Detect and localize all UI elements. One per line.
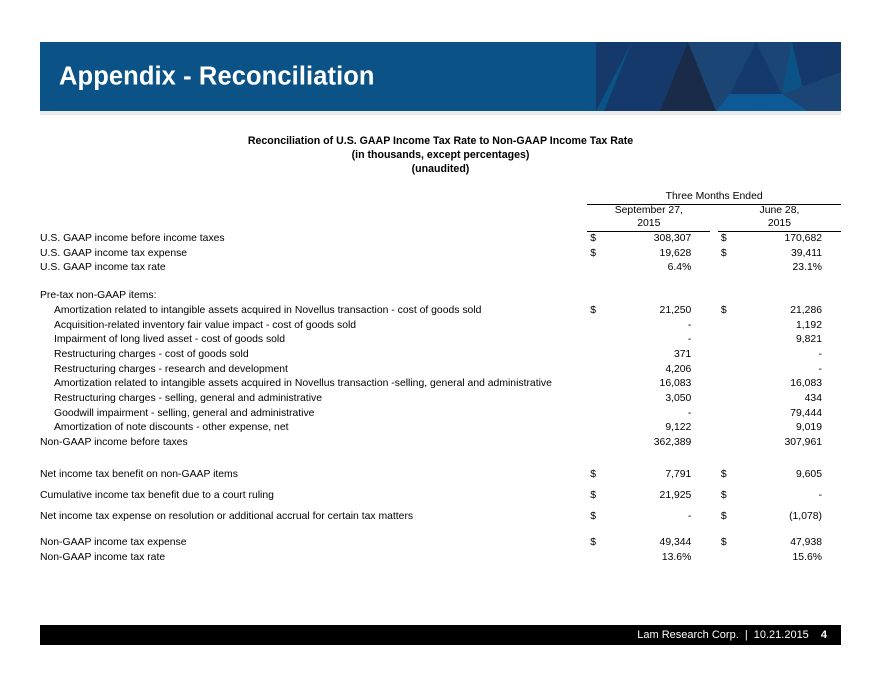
row-currency-symbol-col1 xyxy=(587,289,609,304)
table-row: Pre-tax non-GAAP items: xyxy=(40,289,841,304)
row-currency-symbol-col1 xyxy=(587,363,609,378)
row-currency-symbol-col1 xyxy=(587,333,609,348)
row-currency-symbol-col1: $ xyxy=(587,485,609,506)
row-value-col1: 371 xyxy=(610,348,711,363)
row-value-col2: 15.6% xyxy=(740,551,841,566)
row-gap xyxy=(710,464,718,485)
row-currency-symbol-col1: $ xyxy=(587,536,609,551)
row-currency-symbol-col1 xyxy=(587,319,609,334)
row-value-col1: 19,628 xyxy=(610,247,711,262)
row-currency-symbol-col2 xyxy=(718,289,740,304)
row-value-col2: 307,961 xyxy=(740,436,841,451)
row-currency-symbol-col1 xyxy=(587,436,609,451)
row-gap xyxy=(710,377,718,392)
row-gap xyxy=(710,485,718,506)
footer-separator: | xyxy=(745,629,748,641)
row-value-col2: 16,083 xyxy=(740,377,841,392)
row-value-col1: 6.4% xyxy=(610,261,711,276)
table-row: Amortization related to intangible asset… xyxy=(40,304,841,319)
row-label: Restructuring charges - selling, general… xyxy=(40,392,587,407)
table-spacer-row xyxy=(40,451,841,464)
row-currency-symbol-col1: $ xyxy=(587,247,609,262)
footer-text: Lam Research Corp. | 10.21.2015 4 xyxy=(637,629,827,641)
reconciliation-table: Three Months Ended September 27, June 28… xyxy=(40,190,841,565)
table-header: Three Months Ended September 27, June 28… xyxy=(40,190,841,232)
row-value-col1: - xyxy=(610,319,711,334)
table-row: Non-GAAP income tax rate13.6%15.6% xyxy=(40,551,841,566)
row-currency-symbol-col2 xyxy=(718,348,740,363)
row-currency-symbol-col2: $ xyxy=(718,485,740,506)
table-title-line1: Reconciliation of U.S. GAAP Income Tax R… xyxy=(40,134,841,148)
row-currency-symbol-col2: $ xyxy=(718,536,740,551)
row-label: Impairment of long lived asset - cost of… xyxy=(40,333,587,348)
row-currency-symbol-col2 xyxy=(718,407,740,422)
row-currency-symbol-col1 xyxy=(587,392,609,407)
column-group-header: Three Months Ended xyxy=(587,190,841,205)
row-gap xyxy=(710,289,718,304)
row-value-col1: 362,389 xyxy=(610,436,711,451)
table-body: U.S. GAAP income before income taxes$308… xyxy=(40,232,841,566)
row-currency-symbol-col2: $ xyxy=(718,506,740,527)
row-value-col2: 39,411 xyxy=(740,247,841,262)
row-label: Acquisition-related inventory fair value… xyxy=(40,319,587,334)
row-currency-symbol-col2 xyxy=(718,392,740,407)
row-currency-symbol-col1 xyxy=(587,551,609,566)
slide-header-banner: Appendix - Reconciliation xyxy=(40,42,841,111)
table-row: Amortization of note discounts - other e… xyxy=(40,421,841,436)
row-currency-symbol-col2 xyxy=(718,377,740,392)
table-row: Non-GAAP income before taxes362,389307,9… xyxy=(40,436,841,451)
triangle-pattern-icon xyxy=(596,42,841,111)
row-value-col1: 4,206 xyxy=(610,363,711,378)
row-currency-symbol-col2 xyxy=(718,421,740,436)
row-currency-symbol-col2 xyxy=(718,261,740,276)
row-value-col1: 16,083 xyxy=(610,377,711,392)
row-label: Non-GAAP income before taxes xyxy=(40,436,587,451)
row-label: U.S. GAAP income tax expense xyxy=(40,247,587,262)
row-currency-symbol-col1: $ xyxy=(587,506,609,527)
row-currency-symbol-col1: $ xyxy=(587,232,609,247)
row-currency-symbol-col2: $ xyxy=(718,247,740,262)
row-label: Amortization of note discounts - other e… xyxy=(40,421,587,436)
row-gap xyxy=(710,536,718,551)
row-gap xyxy=(710,261,718,276)
row-gap xyxy=(710,333,718,348)
row-value-col2: 47,938 xyxy=(740,536,841,551)
table-row: U.S. GAAP income before income taxes$308… xyxy=(40,232,841,247)
slide-footer-bar: Lam Research Corp. | 10.21.2015 4 xyxy=(40,625,841,645)
row-label: U.S. GAAP income tax rate xyxy=(40,261,587,276)
row-value-col1 xyxy=(610,289,711,304)
row-label: Pre-tax non-GAAP items: xyxy=(40,289,587,304)
row-gap xyxy=(710,421,718,436)
footer-date: 10.21.2015 xyxy=(754,629,809,641)
row-currency-symbol-col1: $ xyxy=(587,464,609,485)
row-value-col2: 1,192 xyxy=(740,319,841,334)
row-label: Restructuring charges - cost of goods so… xyxy=(40,348,587,363)
table-row: U.S. GAAP income tax expense$19,628$39,4… xyxy=(40,247,841,262)
table-row: Restructuring charges - selling, general… xyxy=(40,392,841,407)
row-label: Cumulative income tax benefit due to a c… xyxy=(40,485,587,506)
row-gap xyxy=(710,363,718,378)
row-value-col2: 21,286 xyxy=(740,304,841,319)
column1-header-line1: September 27, xyxy=(587,205,710,218)
row-currency-symbol-col2 xyxy=(718,551,740,566)
footer-page-number: 4 xyxy=(821,629,827,641)
row-label: Net income tax expense on resolution or … xyxy=(40,506,587,527)
row-gap xyxy=(710,247,718,262)
row-value-col1: 21,250 xyxy=(610,304,711,319)
row-value-col1: - xyxy=(610,333,711,348)
row-value-col1: 21,925 xyxy=(610,485,711,506)
row-label: Non-GAAP income tax rate xyxy=(40,551,587,566)
row-label: Net income tax benefit on non-GAAP items xyxy=(40,464,587,485)
row-currency-symbol-col1 xyxy=(587,377,609,392)
row-value-col2: (1,078) xyxy=(740,506,841,527)
table-row: Cumulative income tax benefit due to a c… xyxy=(40,485,841,506)
row-label: Goodwill impairment - selling, general a… xyxy=(40,407,587,422)
row-label: Restructuring charges - research and dev… xyxy=(40,363,587,378)
table-title-line2: (in thousands, except percentages) xyxy=(40,148,841,162)
table-spacer-row xyxy=(40,276,841,289)
row-currency-symbol-col1: $ xyxy=(587,304,609,319)
row-value-col2: 79,444 xyxy=(740,407,841,422)
row-value-col2: 434 xyxy=(740,392,841,407)
table-header-col-row1: September 27, June 28, xyxy=(40,205,841,218)
row-value-col1: 49,344 xyxy=(610,536,711,551)
row-value-col1: - xyxy=(610,506,711,527)
table-row: U.S. GAAP income tax rate6.4%23.1% xyxy=(40,261,841,276)
table-spacer-row xyxy=(40,527,841,536)
table-header-col-row2: 2015 2015 xyxy=(40,218,841,232)
column2-header-line2: 2015 xyxy=(718,218,841,232)
row-gap xyxy=(710,304,718,319)
table-row: Acquisition-related inventory fair value… xyxy=(40,319,841,334)
table-header-group-row: Three Months Ended xyxy=(40,190,841,205)
table-row: Impairment of long lived asset - cost of… xyxy=(40,333,841,348)
table-row: Net income tax benefit on non-GAAP items… xyxy=(40,464,841,485)
footer-company: Lam Research Corp. xyxy=(637,629,739,641)
row-gap xyxy=(710,392,718,407)
row-currency-symbol-col1 xyxy=(587,261,609,276)
row-currency-symbol-col2 xyxy=(718,333,740,348)
row-gap xyxy=(710,232,718,247)
header-underline-strip xyxy=(40,111,841,115)
row-value-col2: 9,821 xyxy=(740,333,841,348)
row-value-col2: 9,019 xyxy=(740,421,841,436)
row-gap xyxy=(710,348,718,363)
row-currency-symbol-col2: $ xyxy=(718,304,740,319)
table-row: Restructuring charges - research and dev… xyxy=(40,363,841,378)
row-gap xyxy=(710,551,718,566)
row-value-col2: 23.1% xyxy=(740,261,841,276)
row-value-col1: - xyxy=(610,407,711,422)
row-currency-symbol-col2: $ xyxy=(718,464,740,485)
row-currency-symbol-col2 xyxy=(718,363,740,378)
row-label: Amortization related to intangible asset… xyxy=(40,377,587,392)
table-row: Amortization related to intangible asset… xyxy=(40,377,841,392)
row-currency-symbol-col2 xyxy=(718,436,740,451)
table-title-line3: (unaudited) xyxy=(40,162,841,176)
row-value-col2: 9,605 xyxy=(740,464,841,485)
table-row: Goodwill impairment - selling, general a… xyxy=(40,407,841,422)
table-row: Restructuring charges - cost of goods so… xyxy=(40,348,841,363)
table-row: Net income tax expense on resolution or … xyxy=(40,506,841,527)
row-value-col1: 9,122 xyxy=(610,421,711,436)
table-title-block: Reconciliation of U.S. GAAP Income Tax R… xyxy=(40,134,841,177)
row-gap xyxy=(710,436,718,451)
row-value-col1: 3,050 xyxy=(610,392,711,407)
row-currency-symbol-col2: $ xyxy=(718,232,740,247)
row-gap xyxy=(710,506,718,527)
row-value-col2: - xyxy=(740,348,841,363)
table-row: Non-GAAP income tax expense$49,344$47,93… xyxy=(40,536,841,551)
row-value-col2: 170,682 xyxy=(740,232,841,247)
row-label: Non-GAAP income tax expense xyxy=(40,536,587,551)
row-currency-symbol-col1 xyxy=(587,421,609,436)
row-value-col2 xyxy=(740,289,841,304)
row-currency-symbol-col1 xyxy=(587,407,609,422)
row-gap xyxy=(710,407,718,422)
column1-header-line2: 2015 xyxy=(587,218,710,232)
row-label: Amortization related to intangible asset… xyxy=(40,304,587,319)
row-value-col1: 308,307 xyxy=(610,232,711,247)
page-title: Appendix - Reconciliation xyxy=(59,62,375,91)
row-label: U.S. GAAP income before income taxes xyxy=(40,232,587,247)
row-value-col2: - xyxy=(740,363,841,378)
header-decoration-triangles xyxy=(596,42,841,111)
row-gap xyxy=(710,319,718,334)
row-value-col2: - xyxy=(740,485,841,506)
column2-header-line1: June 28, xyxy=(718,205,841,218)
row-value-col1: 13.6% xyxy=(610,551,711,566)
row-currency-symbol-col2 xyxy=(718,319,740,334)
row-value-col1: 7,791 xyxy=(610,464,711,485)
row-currency-symbol-col1 xyxy=(587,348,609,363)
